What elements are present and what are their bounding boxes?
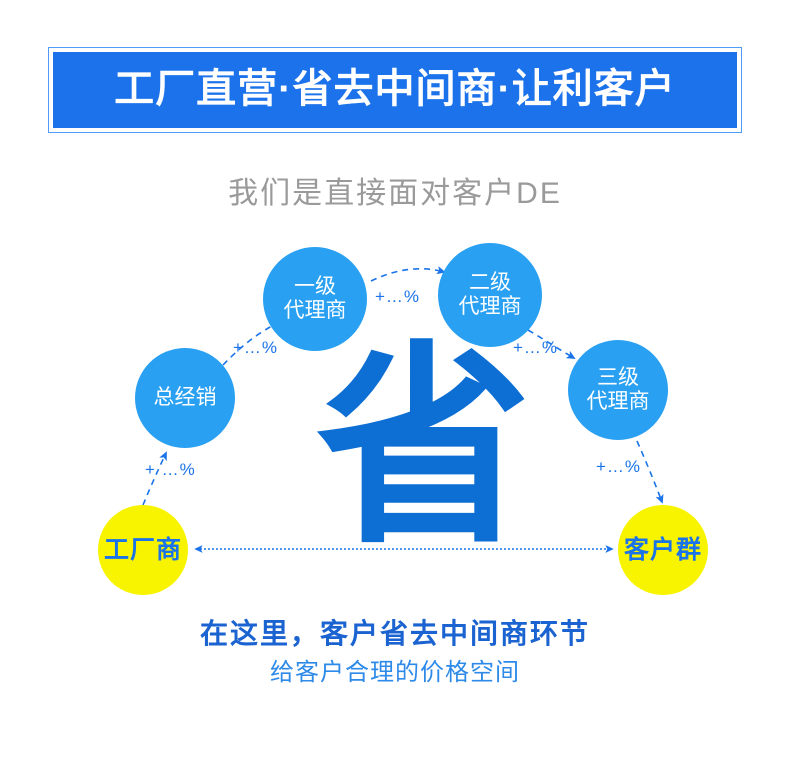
node-level2-agent-label-line1: 二级 xyxy=(469,271,511,295)
node-level3-agent-label-line2: 代理商 xyxy=(587,390,650,414)
edge-label-level3-to-customer: +…% xyxy=(596,457,641,477)
node-level3-agent[interactable]: 三级 代理商 xyxy=(568,340,668,440)
node-level3-agent-label-line1: 三级 xyxy=(597,366,639,390)
node-level1-agent-label-line1: 一级 xyxy=(294,275,336,299)
footer-subline: 给客户合理的价格空间 xyxy=(0,652,790,687)
node-factory[interactable]: 工厂商 xyxy=(98,505,188,595)
node-level2-agent-label-line2: 代理商 xyxy=(459,295,522,319)
node-zongjingxiao-label: 总经销 xyxy=(154,386,217,410)
node-customer-group[interactable]: 客户群 xyxy=(618,505,708,595)
node-zongjingxiao[interactable]: 总经销 xyxy=(135,348,235,448)
footer-headline: 在这里，客户省去中间商环节 xyxy=(0,612,790,652)
arrow-level1-to-level2 xyxy=(371,269,444,281)
edge-label-factory-to-zongjingxiao: + …% xyxy=(145,460,196,480)
node-factory-label: 工厂商 xyxy=(104,536,182,564)
node-customer-group-label: 客户群 xyxy=(624,536,702,564)
node-level1-agent[interactable]: 一级 代理商 xyxy=(263,247,367,351)
node-level1-agent-label-line2: 代理商 xyxy=(284,299,347,323)
edge-label-zongjingxiao-to-level1: +…% xyxy=(233,338,278,358)
edge-label-level2-to-level3: +…% xyxy=(513,338,558,358)
edge-label-level1-to-level2: +…% xyxy=(375,287,420,307)
node-level2-agent[interactable]: 二级 代理商 xyxy=(438,243,542,347)
